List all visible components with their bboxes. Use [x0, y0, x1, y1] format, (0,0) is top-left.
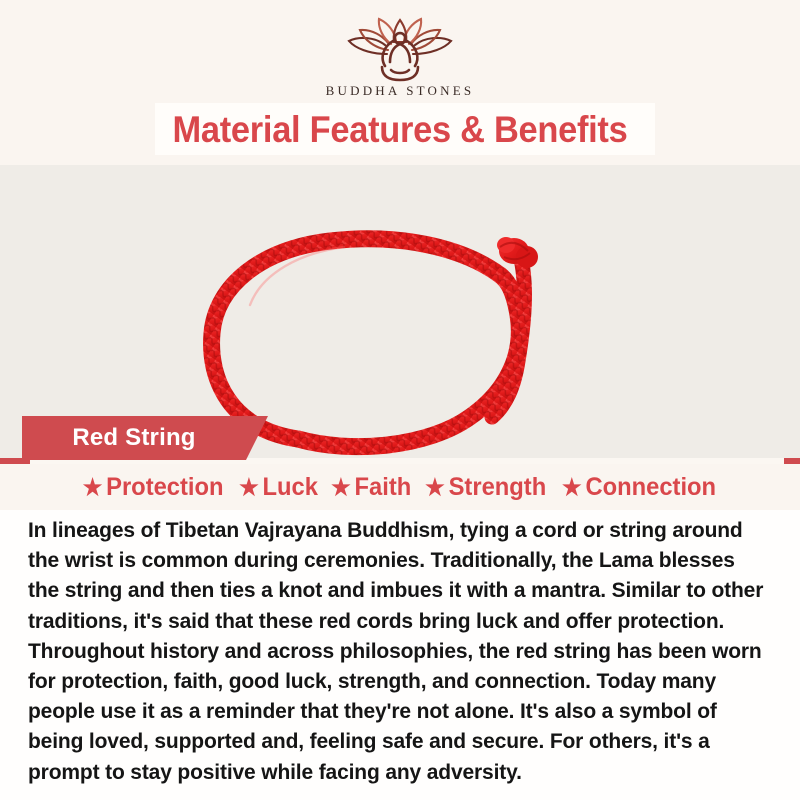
benefit-label: Faith [354, 473, 411, 502]
star-icon: ★ [562, 476, 582, 499]
benefit-label: Connection [586, 473, 717, 502]
benefit-label: Strength [449, 473, 547, 502]
benefit-label: Protection [107, 473, 224, 502]
lotus-meditation-icon [325, 14, 475, 82]
benefit-label: Luck [262, 473, 317, 502]
benefit-item: ★ Connection [562, 473, 716, 502]
red-string-bracelet-illustration [0, 165, 800, 458]
benefits-row: ★ Protection ★ Luck ★ Faith ★ Strength ★… [0, 464, 800, 510]
benefit-item: ★ Faith [331, 473, 411, 502]
product-photo [0, 165, 800, 458]
section-title: Red String [22, 416, 246, 460]
brand-wordmark: BUDDHA STONES [326, 83, 475, 99]
benefit-item: ★ Strength [425, 473, 546, 502]
star-icon: ★ [239, 476, 259, 499]
page-title: Material Features & Benefits [28, 104, 772, 156]
star-icon: ★ [83, 476, 103, 499]
infographic-card: BUDDHA STONES Material Features & Benefi… [0, 0, 800, 800]
star-icon: ★ [331, 476, 351, 499]
description-text: In lineages of Tibetan Vajrayana Buddhis… [0, 510, 800, 800]
brand-logo: BUDDHA STONES [0, 14, 800, 99]
benefit-item: ★ Protection [83, 473, 224, 502]
star-icon: ★ [425, 476, 445, 499]
benefit-item: ★ Luck [239, 473, 318, 502]
